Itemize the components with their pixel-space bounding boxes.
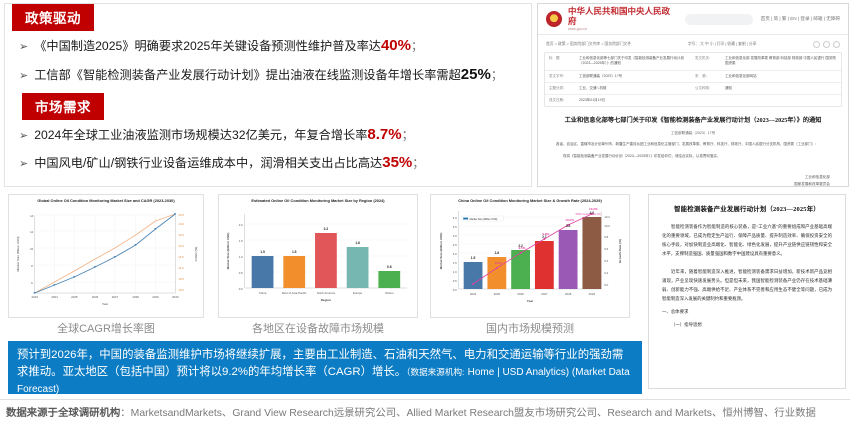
svg-text:2027: 2027 <box>541 292 548 296</box>
market-bullet-1-text: 2024年全球工业油液监测市场规模达32亿美元，年复合增长率8.7%； <box>34 126 414 145</box>
gov-meta-table: 标 题 工业和信息化部等七部门关于印发《智能检测装备产业发展行动计划（2023—… <box>544 52 842 107</box>
policy-bullet-2-text: 工信部《智能检测装备产业发展行动计划》提出油液在线监测设备年增长率需超25%； <box>34 66 503 85</box>
svg-text:1.5: 1.5 <box>292 250 297 254</box>
svg-text:10.0%: 10.0% <box>565 218 574 222</box>
table-row: 成文日期： 2023年01月19日 <box>545 95 841 106</box>
svg-text:2.2: 2.2 <box>324 227 329 231</box>
policy-section-tag: 政策驱动 <box>12 4 94 31</box>
meta-value: 工信部联通装〔2023〕17号 <box>579 74 691 79</box>
gov-site-identity: 中华人民共和国中央人民政府 www.gov.cn <box>568 7 673 31</box>
weibo-icon[interactable] <box>813 41 820 48</box>
chart1-title: Global Online Oil Condition Monitoring M… <box>9 195 203 205</box>
market-bullet-2: ➢ 中国风电/矿山/钢铁行业设备运维成本中，润滑相关支出占比高达35%； <box>5 148 531 177</box>
svg-text:2028: 2028 <box>565 292 572 296</box>
policy-tag-wrap: 政策驱动 <box>5 4 531 31</box>
market-bullet-2-post: ； <box>412 156 424 170</box>
svg-text:1.5: 1.5 <box>260 250 265 254</box>
svg-text:1.8: 1.8 <box>355 241 360 245</box>
forecast-banner: 预计到2026年，中国的装备监测维护市场将继续扩展，主要由工业制造、石油和天然气… <box>8 341 642 394</box>
svg-text:11.5: 11.5 <box>178 255 184 259</box>
policy-bullet-1-pre: 《中国制造2025》明确要求2025年关键设备预测性维护普及率达 <box>34 39 381 53</box>
gov-top-nav[interactable]: 首页 | 简 | 繁 | EN | 登录 | 邮箱 | 无障碍 <box>761 16 840 22</box>
doc-panel-title: 智能检测装备产业发展行动计划（2023—2025年） <box>649 195 845 213</box>
wechat-icon[interactable] <box>823 41 830 48</box>
market-bullet-1-highlight: 8.7% <box>367 126 401 143</box>
svg-text:2023: 2023 <box>32 295 39 299</box>
bar-2029 <box>582 217 601 289</box>
bar-2028 <box>559 230 578 289</box>
meta-value: 工业和信息化部等七部门关于印发《智能检测装备产业发展行动计划（2023—2025… <box>579 56 691 67</box>
policy-bullet-2-pre: 工信部《智能检测装备产业发展行动计划》提出油液在线监测设备年增长率需超 <box>34 68 461 82</box>
chart1-svg: 68 101214 10.010.511.0 11.512.012.5 13.0… <box>9 205 203 309</box>
doc-panel-para-2: 近年来，随着智能制造深入推进，智能检测装备需求日益增加，新技术新产品竞相涌现，产… <box>649 267 845 303</box>
svg-text:0.8: 0.8 <box>387 265 392 269</box>
national-emblem-icon <box>546 11 562 27</box>
svg-text:1.5: 1.5 <box>239 239 243 243</box>
meta-key: 发文字号： <box>549 74 575 79</box>
chart3-svg: 1.51.8 2.22.7 3.34.0 9.0%9.5% 9.8%10.0% … <box>431 205 629 309</box>
svg-text:0.5: 0.5 <box>239 271 243 275</box>
gov-page-body: 首页 > 政策 > 国务院部门文件库 > 国务院部门文件 字号： 大 中 小 |… <box>538 35 848 187</box>
gov-document-area: 工业和信息化部等七部门关于印发《智能检测装备产业发展行动计划（2023—2025… <box>544 107 842 187</box>
svg-text:2025: 2025 <box>494 292 501 296</box>
svg-text:2024: 2024 <box>51 295 58 299</box>
gov-site-header: 中华人民共和国中央人民政府 www.gov.cn 首页 | 简 | 繁 | EN… <box>538 4 848 35</box>
doc-panel-para-1: 智能检测装备作为智能制造的核心装备，是“工业六基”的重要组成和产业基础高端化的重… <box>649 222 845 258</box>
bar-europe <box>347 247 369 288</box>
svg-text:12.5: 12.5 <box>178 233 184 237</box>
meta-value-2: 工业和信息化部网站 <box>725 74 837 79</box>
svg-text:2025: 2025 <box>71 295 78 299</box>
svg-text:14: 14 <box>30 214 34 218</box>
bar-china <box>252 256 274 288</box>
chart1-caption: 全球CAGR增长率图 <box>8 320 204 336</box>
policy-bullet-1: ➢ 《中国制造2025》明确要求2025年关键设备预测性维护普及率达40%； <box>5 31 531 60</box>
chart2-caption: 各地区在设备故障市场规模 <box>218 320 418 336</box>
market-bullet-2-highlight: 35% <box>382 154 412 171</box>
svg-text:9.0: 9.0 <box>604 283 608 287</box>
market-tag-wrap: 市场需求 <box>5 93 531 120</box>
svg-text:10.2%: 10.2% <box>589 207 598 211</box>
svg-text:9.5%: 9.5% <box>519 246 526 250</box>
meta-value: 工业、交通 \ 机械 <box>579 86 691 91</box>
svg-text:10.5: 10.5 <box>178 277 184 281</box>
chart3-xlabel: Year <box>527 299 534 303</box>
market-bullet-1: ➢ 2024年全球工业油液监测市场规模达32亿美元，年复合增长率8.7%； <box>5 120 531 149</box>
bar-2027 <box>535 241 554 289</box>
svg-text:1.0: 1.0 <box>239 255 243 259</box>
gov-site-title: 中华人民共和国中央人民政府 <box>568 7 673 27</box>
gov-toolbar-text[interactable]: 字号： 大 中 小 | 打印 | 收藏 | 复制 | 分享 <box>688 42 757 47</box>
chart2-title: Estimated Online Oil Condition Monitorin… <box>219 195 417 205</box>
gov-document-signatures: 工业和信息化部 国家发展和改革委员会 2023年1月11日 <box>556 174 830 187</box>
market-bullet-2-text: 中国风电/矿山/钢铁行业设备运维成本中，润滑相关支出占比高达35%； <box>34 154 424 173</box>
bar-others <box>378 271 400 288</box>
svg-text:10.0: 10.0 <box>604 224 610 228</box>
gov-document-title: 工业和信息化部等七部门关于印发《智能检测装备产业发展行动计划（2023—2025… <box>556 116 830 126</box>
market-bullet-2-pre: 中国风电/矿山/钢铁行业设备运维成本中，润滑相关支出占比高达 <box>34 156 382 170</box>
svg-text:12.0: 12.0 <box>178 244 184 248</box>
chart-card-global-cagr: Global Online Oil Condition Monitoring M… <box>8 194 204 318</box>
svg-text:10.2: 10.2 <box>604 215 610 219</box>
meta-key-2: 来 源： <box>695 74 721 79</box>
chart2-plot: 1.51.5 2.21.80.8 0.00.51.0 1.52.0 ChinaR… <box>219 205 417 309</box>
svg-text:2029: 2029 <box>152 295 159 299</box>
bullet-arrow-icon: ➢ <box>19 130 28 144</box>
svg-text:11.0: 11.0 <box>178 266 184 270</box>
policy-bullet-2-highlight: 25% <box>461 66 491 83</box>
chart3-legend: Market Size (Billion USD) <box>462 216 504 221</box>
svg-text:9.0%: 9.0% <box>495 261 502 265</box>
data-sources-footer: 数据来源于全球调研机构：MarketsandMarkets、Grand View… <box>6 404 850 419</box>
chart2-svg: 1.51.5 2.21.80.8 0.00.51.0 1.52.0 ChinaR… <box>219 205 417 309</box>
table-row: 发文字号： 工信部联通装〔2023〕17号 来 源： 工业和信息化部网站 <box>545 71 841 83</box>
svg-text:0.5: 0.5 <box>453 279 457 283</box>
chart3-legend-label-1: Market Size (Billion USD) <box>470 218 498 221</box>
svg-text:9.2: 9.2 <box>604 271 608 275</box>
svg-text:2026: 2026 <box>92 295 99 299</box>
footer-label: 数据来源于全球调研机构 <box>6 408 120 419</box>
policy-bullet-1-post: ； <box>411 39 423 53</box>
chart1-plot: 68 101214 10.010.511.0 11.512.012.5 13.0… <box>9 205 203 309</box>
chart3-ylabel: Market Size (Billion USD) <box>439 232 443 269</box>
chart2-xlabel: Region <box>321 298 331 302</box>
chart3-yticks: 0.00.51.0 1.52.02.5 3.03.54.0 <box>453 216 457 292</box>
policy-bullet-2: ➢ 工信部《智能检测装备产业发展行动计划》提出油液在线监测设备年增长率需超25%… <box>5 60 531 89</box>
svg-text:9.4: 9.4 <box>604 259 608 263</box>
footer-divider <box>0 399 850 400</box>
forecast-banner-source-cn: （数据来源机构: <box>406 367 464 377</box>
policy-bullet-2-post: ； <box>491 68 503 82</box>
market-bullet-1-pre: 2024年全球工业油液监测市场规模达32亿美元，年复合增长率 <box>34 128 367 142</box>
breadcrumb[interactable]: 首页 > 政策 > 国务院部门文件库 > 国务院部门文件 <box>546 42 631 47</box>
market-bullet-1-post: ； <box>402 128 414 142</box>
gov-search-input[interactable] <box>685 14 753 25</box>
meta-value-2: 通知 <box>725 86 837 91</box>
svg-text:13.0: 13.0 <box>178 222 184 226</box>
svg-text:1.5: 1.5 <box>471 256 476 260</box>
key-points-panel: 政策驱动 ➢ 《中国制造2025》明确要求2025年关键设备预测性维护普及率达4… <box>4 3 532 187</box>
doc-panel-section: 一、总体要求 <box>649 307 845 316</box>
svg-text:2027: 2027 <box>112 295 119 299</box>
chart3-caption: 国内市场规模预测 <box>430 320 630 336</box>
svg-text:3.3: 3.3 <box>566 224 571 228</box>
meta-key: 标 题 <box>549 56 575 67</box>
gov-document-body: 现将《智能检测装备产业发展行动计划（2023—2025年）》印发给你们，请结合实… <box>556 154 830 160</box>
svg-text:0.0: 0.0 <box>239 287 243 291</box>
svg-text:3.0: 3.0 <box>453 234 457 238</box>
bullet-arrow-icon: ➢ <box>19 41 28 55</box>
svg-text:10.0: 10.0 <box>178 288 184 292</box>
table-row: 主题分类： 工业、交通 \ 机械 公文种类： 通知 <box>545 83 841 95</box>
meta-value-2: 工业和信息化部 发展改革委 教育部 科技部 财政部 中国人民银行 国务院国资委 <box>725 56 837 67</box>
svg-text:2026: 2026 <box>517 292 524 296</box>
svg-text:China: China <box>259 291 267 295</box>
chart3-plot: 1.51.8 2.22.7 3.34.0 9.0%9.5% 9.8%10.0% … <box>431 205 629 309</box>
qq-icon[interactable] <box>833 41 840 48</box>
meta-key-2: 发文机关： <box>695 56 721 67</box>
svg-text:1.8: 1.8 <box>495 251 500 255</box>
chart3-legend-label-2: Growth Rate (%) <box>582 213 600 216</box>
meta-key-2: 公文种类： <box>695 86 721 91</box>
chart1-y2label: CAGR (%) <box>194 246 198 261</box>
chart1-ylabel: Market Size (Billion USD) <box>16 236 20 271</box>
svg-text:2028: 2028 <box>133 295 140 299</box>
svg-text:2.0: 2.0 <box>453 252 457 256</box>
doc-panel-subsection: （一）指导思想 <box>649 320 845 329</box>
chart2-ylabel: Market Size (Billion USD) <box>226 232 230 269</box>
policy-bullet-1-highlight: 40% <box>381 37 411 54</box>
chart-card-china-forecast: China Online Oil Condition Monitoring Ma… <box>430 194 630 318</box>
svg-text:2.5: 2.5 <box>453 243 457 247</box>
meta-key: 成文日期： <box>549 98 575 103</box>
svg-text:North America: North America <box>317 291 336 295</box>
action-plan-document-panel: 智能检测装备产业发展行动计划（2023—2025年） 智能检测装备作为智能制造的… <box>648 194 846 389</box>
table-row: 标 题 工业和信息化部等七部门关于印发《智能检测装备产业发展行动计划（2023—… <box>545 53 841 71</box>
svg-text:2029: 2029 <box>589 292 596 296</box>
svg-text:Europe: Europe <box>353 291 363 295</box>
svg-text:2.0: 2.0 <box>239 223 243 227</box>
svg-text:9.8: 9.8 <box>604 235 608 239</box>
svg-text:9.6: 9.6 <box>604 247 608 251</box>
svg-text:Others: Others <box>385 291 394 295</box>
svg-text:Rest of Asia-Pacific: Rest of Asia-Pacific <box>282 291 307 295</box>
svg-text:13.5: 13.5 <box>178 213 184 217</box>
market-section-tag: 市场需求 <box>22 93 104 120</box>
svg-text:10: 10 <box>30 247 34 251</box>
chart-card-region-bar: Estimated Online Oil Condition Monitorin… <box>218 194 418 318</box>
bar-rest-asia-pacific <box>283 256 305 288</box>
gov-share-icons[interactable] <box>813 41 840 48</box>
policy-bullet-1-text: 《中国制造2025》明确要求2025年关键设备预测性维护普及率达40%； <box>34 37 423 56</box>
meta-value: 2023年01月19日 <box>579 98 837 103</box>
bullet-arrow-icon: ➢ <box>19 158 28 172</box>
gov-crumb-bar: 首页 > 政策 > 国务院部门文件库 > 国务院部门文件 字号： 大 中 小 |… <box>544 39 842 52</box>
bullet-arrow-icon: ➢ <box>19 70 28 84</box>
chart1-xlabel: Year <box>102 302 108 306</box>
svg-text:4.0: 4.0 <box>453 216 457 220</box>
svg-text:1.0: 1.0 <box>453 270 457 274</box>
svg-text:3.5: 3.5 <box>453 225 457 229</box>
svg-text:2030: 2030 <box>172 295 179 299</box>
gov-document-number: 工信部联通装〔2023〕17号 <box>556 131 830 136</box>
svg-text:12: 12 <box>30 230 34 234</box>
svg-text:1.5: 1.5 <box>453 261 457 265</box>
svg-text:0.0: 0.0 <box>453 288 457 292</box>
gov-website-screenshot: 中华人民共和国中央人民政府 www.gov.cn 首页 | 简 | 繁 | EN… <box>537 3 849 187</box>
footer-text: ：MarketsandMarkets、Grand View Research远景… <box>120 408 816 419</box>
bar-north-america <box>315 233 337 288</box>
bar-2026 <box>511 250 530 289</box>
gov-document-recipients: 各省、自治区、直辖市及计划单列市、新疆生产建设兵团工业和信息化主管部门、发展改革… <box>556 142 830 148</box>
gov-site-url: www.gov.cn <box>568 27 673 31</box>
svg-text:2024: 2024 <box>470 292 477 296</box>
chart3-title: China Online Oil Condition Monitoring Ma… <box>431 195 629 205</box>
chart3-y2label: Growth Rate (%) <box>618 239 622 263</box>
meta-key: 主题分类： <box>549 86 575 91</box>
svg-text:9.8%: 9.8% <box>542 232 549 236</box>
